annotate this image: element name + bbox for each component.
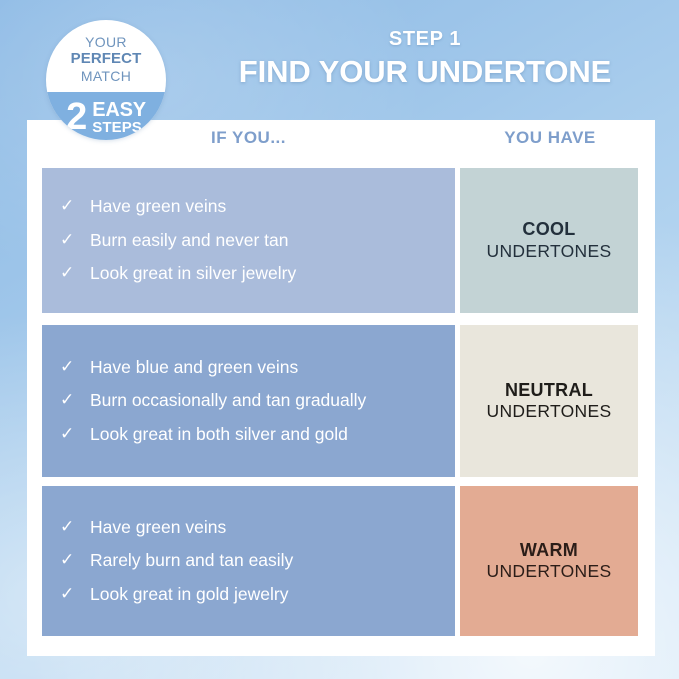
badge-word-steps: STEPS (92, 120, 146, 135)
check-icon: ✓ (60, 584, 90, 605)
swatch-subtitle: UNDERTONES (487, 401, 612, 423)
check-icon: ✓ (60, 550, 90, 571)
trait-label: Have green veins (90, 196, 441, 217)
check-icon: ✓ (60, 357, 90, 378)
trait-item: ✓ Look great in both silver and gold (60, 418, 441, 451)
trait-label: Rarely burn and tan easily (90, 550, 441, 571)
swatch-subtitle: UNDERTONES (487, 561, 612, 583)
swatch-title: COOL (522, 218, 575, 241)
swatch-subtitle: UNDERTONES (487, 241, 612, 263)
trait-label: Burn easily and never tan (90, 230, 441, 251)
traits-panel-warm: ✓ Have green veins ✓ Rarely burn and tan… (42, 486, 455, 636)
badge-step-number: 2 (66, 100, 87, 135)
trait-item: ✓ Look great in silver jewelry (60, 257, 441, 290)
badge-line-3: MATCH (46, 68, 166, 84)
step-label: STEP 1 (190, 28, 660, 50)
content-card: IF YOU... YOU HAVE ✓ Have green veins ✓ … (27, 120, 655, 656)
check-icon: ✓ (60, 424, 90, 445)
perfect-match-badge: YOUR PERFECT MATCH 2 EASY STEPS (46, 20, 166, 140)
undertone-row: ✓ Have blue and green veins ✓ Burn occas… (27, 325, 655, 477)
trait-label: Have green veins (90, 517, 441, 538)
swatch-neutral: NEUTRAL UNDERTONES (460, 325, 638, 477)
undertone-row: ✓ Have green veins ✓ Rarely burn and tan… (27, 486, 655, 636)
badge-line-2: PERFECT (46, 50, 166, 68)
trait-item: ✓ Have green veins (60, 190, 441, 223)
check-icon: ✓ (60, 196, 90, 217)
trait-label: Look great in both silver and gold (90, 424, 441, 445)
trait-item: ✓ Have green veins (60, 511, 441, 544)
badge-bottom-text: 2 EASY STEPS (46, 100, 166, 135)
header-block: STEP 1 FIND YOUR UNDERTONE (190, 28, 660, 89)
badge-step-words: EASY STEPS (92, 100, 146, 135)
check-icon: ✓ (60, 230, 90, 251)
trait-item: ✓ Burn easily and never tan (60, 224, 441, 257)
trait-item: ✓ Rarely burn and tan easily (60, 544, 441, 577)
trait-label: Look great in gold jewelry (90, 584, 441, 605)
badge-top-text: YOUR PERFECT MATCH (46, 34, 166, 84)
swatch-title: WARM (520, 539, 578, 562)
trait-label: Look great in silver jewelry (90, 263, 441, 284)
trait-item: ✓ Look great in gold jewelry (60, 578, 441, 611)
trait-label: Have blue and green veins (90, 357, 441, 378)
check-icon: ✓ (60, 390, 90, 411)
trait-item: ✓ Burn occasionally and tan gradually (60, 384, 441, 417)
check-icon: ✓ (60, 517, 90, 538)
undertone-row: ✓ Have green veins ✓ Burn easily and nev… (27, 168, 655, 313)
swatch-cool: COOL UNDERTONES (460, 168, 638, 313)
swatch-title: NEUTRAL (505, 379, 593, 402)
badge-line-1: YOUR (46, 34, 166, 50)
swatch-warm: WARM UNDERTONES (460, 486, 638, 636)
badge-word-easy: EASY (92, 100, 146, 120)
traits-panel-neutral: ✓ Have blue and green veins ✓ Burn occas… (42, 325, 455, 477)
undertone-infographic: YOUR PERFECT MATCH 2 EASY STEPS STEP 1 F… (0, 0, 679, 679)
traits-panel-cool: ✓ Have green veins ✓ Burn easily and nev… (42, 168, 455, 313)
check-icon: ✓ (60, 263, 90, 284)
trait-item: ✓ Have blue and green veins (60, 351, 441, 384)
page-title: FIND YOUR UNDERTONE (190, 55, 660, 89)
column-header-you-have: YOU HAVE (460, 128, 640, 148)
trait-label: Burn occasionally and tan gradually (90, 390, 441, 411)
